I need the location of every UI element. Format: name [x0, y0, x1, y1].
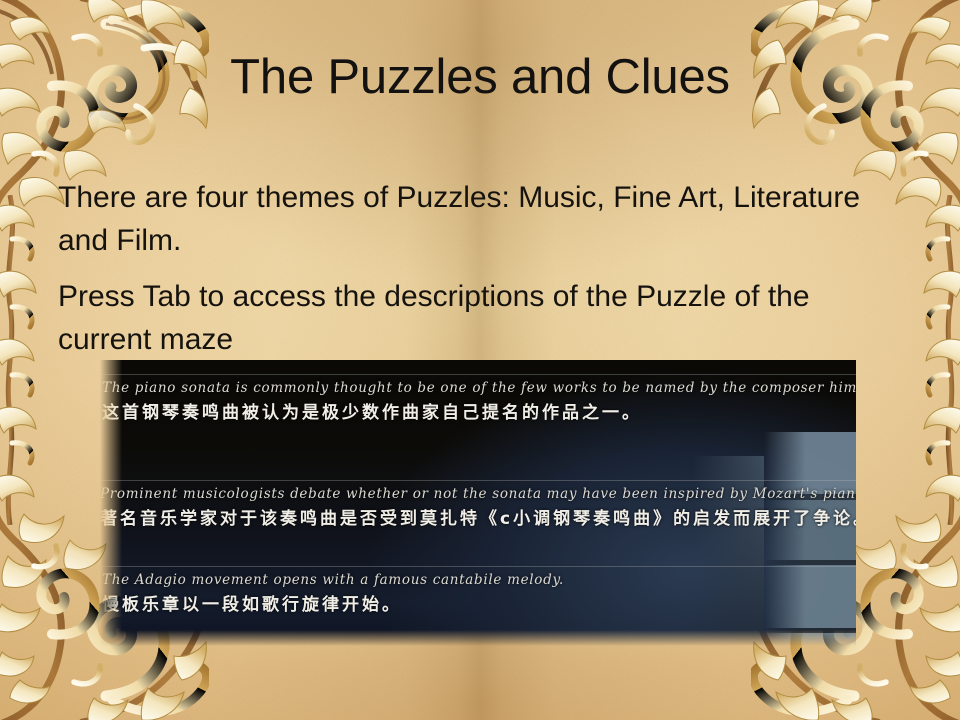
- slide-title: The Puzzles and Clues: [0, 52, 960, 103]
- screenshot-caption-3: The Adagio movement opens with a famous …: [100, 572, 856, 615]
- screenshot-divider-1: [100, 374, 856, 375]
- caption-3-english: The Adagio movement opens with a famous …: [102, 572, 856, 588]
- body-paragraph-1: There are four themes of Puzzles: Music,…: [58, 176, 910, 262]
- caption-2-chinese: 著名音乐学家对于该奏鸣曲是否受到莫扎特《c小调钢琴奏鸣曲》的启发而展开了争论。: [100, 504, 856, 529]
- caption-1-chinese: 这首钢琴奏鸣曲被认为是极少数作曲家自己提名的作品之一。: [102, 398, 856, 423]
- edge-ornament-right: [904, 195, 960, 525]
- screenshot-caption-1: The piano sonata is commonly thought to …: [100, 380, 856, 423]
- presentation-slide: The Puzzles and Clues There are four the…: [0, 0, 960, 720]
- screenshot-divider-2: [100, 480, 856, 481]
- puzzle-description-screenshot: The piano sonata is commonly thought to …: [100, 360, 856, 646]
- body-paragraph-2: Press Tab to access the descriptions of …: [58, 275, 910, 361]
- caption-3-chinese: 慢板乐章以一段如歌行旋律开始。: [102, 590, 856, 615]
- screenshot-caption-2: Prominent musicologists debate whether o…: [100, 486, 856, 529]
- caption-1-english: The piano sonata is commonly thought to …: [102, 380, 856, 396]
- caption-2-english: Prominent musicologists debate whether o…: [100, 486, 856, 502]
- edge-ornament-left: [0, 195, 56, 525]
- screenshot-divider-3: [100, 566, 856, 567]
- slide-body: There are four themes of Puzzles: Music,…: [58, 176, 910, 374]
- stone-wall-far: [692, 456, 764, 646]
